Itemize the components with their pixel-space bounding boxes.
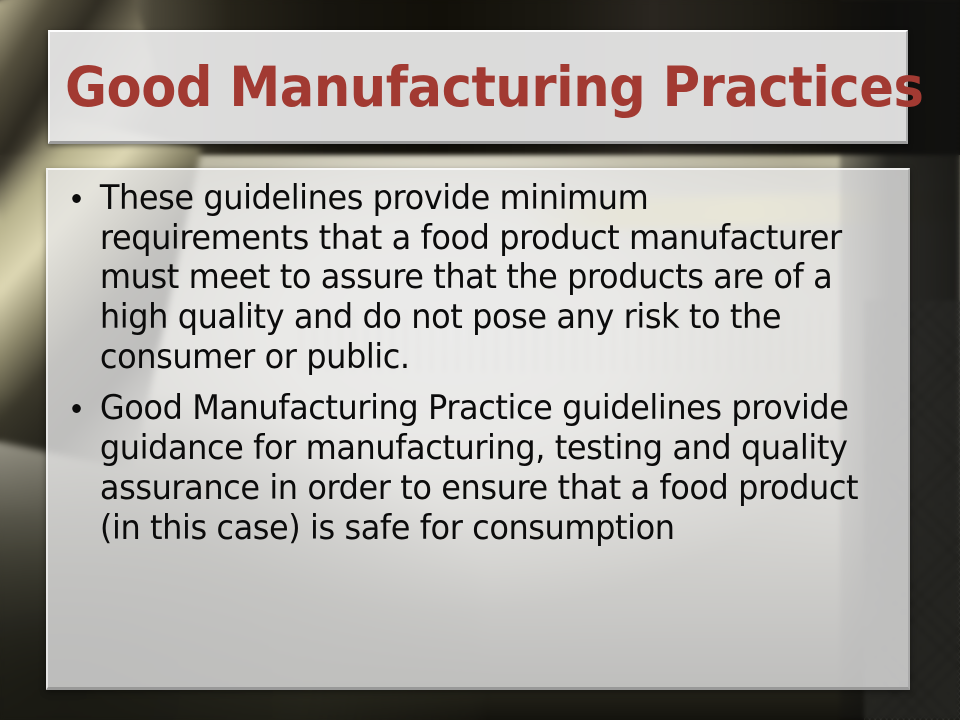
- page-title: Good Manufacturing Practices: [65, 55, 923, 119]
- presentation-slide: Good Manufacturing Practices These guide…: [0, 0, 960, 720]
- bullet-point-icon: [72, 194, 81, 203]
- bullet-point-icon: [72, 404, 81, 413]
- list-item: Good Manufacturing Practice guidelines p…: [56, 388, 864, 547]
- list-item-text: Good Manufacturing Practice guidelines p…: [100, 388, 858, 546]
- list-item: These guidelines provide minimum require…: [56, 178, 864, 376]
- slide-content-box: These guidelines provide minimum require…: [46, 168, 910, 690]
- list-item-text: These guidelines provide minimum require…: [100, 178, 842, 376]
- slide-title-box: Good Manufacturing Practices: [48, 30, 908, 144]
- bullet-list: These guidelines provide minimum require…: [56, 178, 902, 547]
